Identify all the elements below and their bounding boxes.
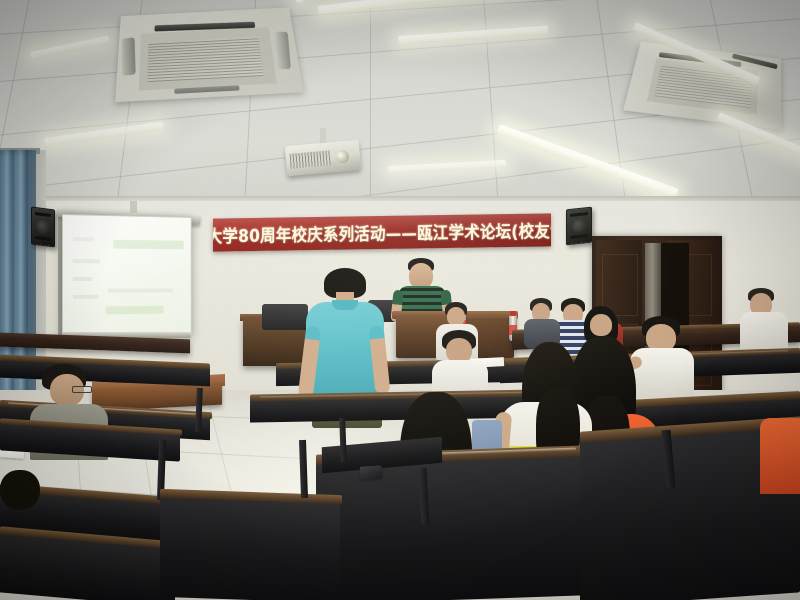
projector <box>285 140 361 176</box>
ceiling <box>0 0 800 205</box>
wall-speaker-right <box>566 207 592 246</box>
bench-seat-front-left[interactable] <box>160 495 340 600</box>
banner-text: 温州大学80周年校庆系列活动——瓯江学术论坛(校友专场) <box>213 217 551 248</box>
standing-man-collar <box>332 300 358 310</box>
projection-screen <box>62 214 192 338</box>
bench-seat-front-center[interactable] <box>316 453 584 600</box>
lecture-hall-photo: 温州大学80周年校庆系列活动——瓯江学术论坛(校友专场) <box>0 0 800 600</box>
wall-speaker-left <box>31 207 55 248</box>
ac-grille-icon <box>147 37 263 83</box>
presenter-chair[interactable] <box>262 304 308 330</box>
smartphone[interactable] <box>360 465 383 480</box>
wall-ceiling-trim <box>0 196 800 201</box>
screen-mount <box>130 201 137 213</box>
glasses-icon <box>72 386 92 393</box>
ceiling-ac-unit-left <box>115 7 304 102</box>
event-banner: 温州大学80周年校庆系列活动——瓯江学术论坛(校友专场) <box>213 213 551 251</box>
